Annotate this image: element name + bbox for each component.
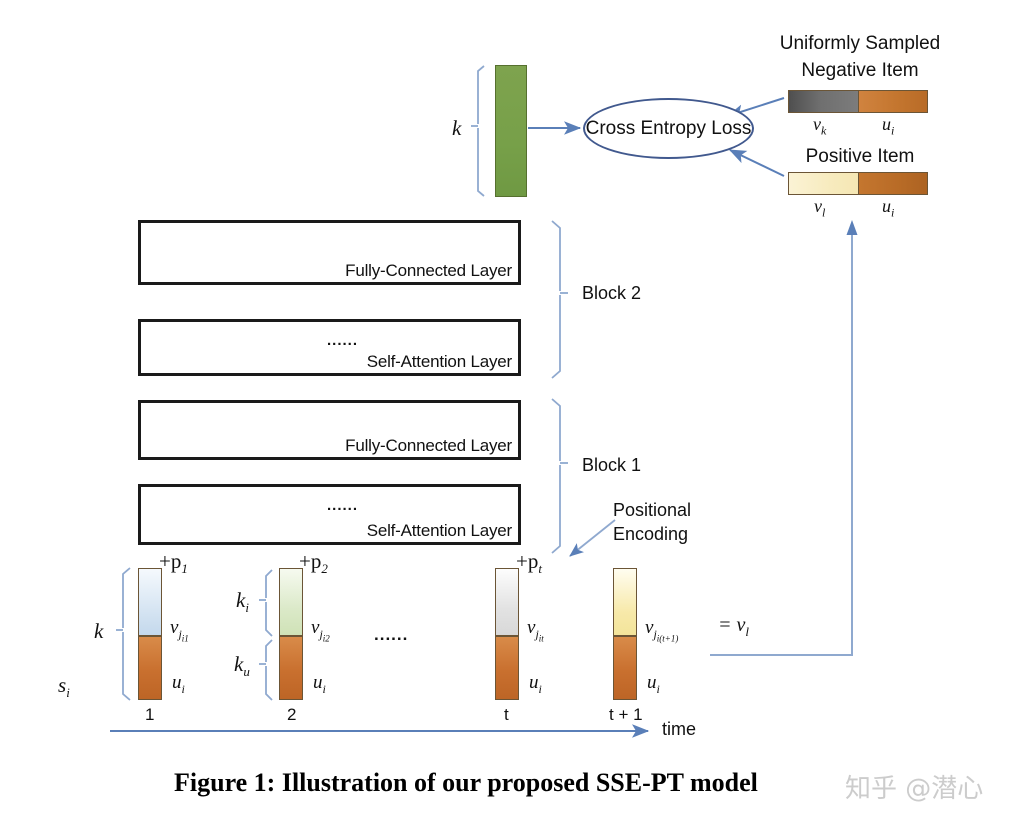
positive-item-bar: [788, 172, 928, 195]
input-column-t1-item-label: vji(t+1): [645, 617, 678, 643]
bracket-block-1: [552, 399, 568, 553]
input-column-t1-divider: [614, 635, 636, 637]
input-column-bar-1: [138, 568, 162, 700]
input-column-2-user-label: ui: [313, 672, 326, 697]
block1-fc-label: Fully-Connected Layer: [345, 436, 512, 456]
positive-item-right-half: [858, 173, 927, 194]
block2-fully-connected-layer: Fully-Connected Layer: [138, 220, 521, 285]
input-dim-label-k: k: [94, 619, 103, 644]
block1-fully-connected-layer: Fully-Connected Layer: [138, 400, 521, 460]
positive-item-right-label: ui: [882, 196, 894, 221]
block2-fc-label: Fully-Connected Layer: [345, 261, 512, 281]
negative-item-right-label: ui: [882, 114, 894, 139]
input-column-bar-t-plus-1: [613, 568, 637, 700]
cross-entropy-loss-node[interactable]: Cross Entropy Loss: [583, 98, 754, 159]
positive-item-left-half: [789, 173, 858, 194]
input-column-bar-2: [279, 568, 303, 700]
negative-item-bar: [788, 90, 928, 113]
positive-item-left-label: vl: [814, 196, 825, 221]
input-column-t-item-segment: [496, 569, 518, 636]
cross-entropy-loss-label: Cross Entropy Loss: [586, 118, 752, 140]
input-column-bar-t: [495, 568, 519, 700]
bracket-output-k: [471, 66, 484, 196]
positional-marker-p2: +p2: [299, 549, 328, 577]
output-vector-bar: [495, 65, 527, 197]
block1-label: Block 1: [582, 455, 641, 476]
negative-item-title-line2: Negative Item: [775, 60, 945, 82]
negative-item-right-half: [858, 91, 927, 112]
block2-attention-dots: ......: [327, 332, 358, 349]
input-sequence-ellipsis: ......: [374, 625, 408, 645]
bracket-block-2: [552, 221, 568, 378]
bracket-k-item: [259, 570, 272, 636]
connector-arrowhead: [847, 220, 858, 235]
input-column-1-tick: 1: [145, 705, 154, 725]
input-column-t1-item-segment: [614, 569, 636, 636]
block2-self-attention-layer: ...... Self-Attention Layer: [138, 319, 521, 376]
input-column-1-divider: [139, 635, 161, 637]
input-column-t-item-label: vjit: [527, 617, 544, 643]
negative-item-left-label: vk: [813, 114, 826, 139]
negative-item-left-half: [789, 91, 858, 112]
input-column-t-user-label: ui: [529, 672, 542, 697]
input-column-1-user-label: ui: [172, 672, 185, 697]
input-column-t1-equals-vl: = vl: [718, 614, 749, 640]
sequence-label-si: si: [58, 673, 70, 701]
item-dim-label-ki: ki: [236, 588, 249, 616]
input-column-t-divider: [496, 635, 518, 637]
block2-label: Block 2: [582, 283, 641, 304]
connector-target-to-positive: [710, 232, 852, 655]
bracket-input-k: [116, 568, 130, 700]
input-column-t-tick: t: [504, 705, 509, 725]
block1-self-attention-layer: ...... Self-Attention Layer: [138, 484, 521, 545]
input-column-t1-user-label: ui: [647, 672, 660, 697]
input-column-2-item-label: vji2: [311, 617, 330, 643]
input-column-1-item-label: vji1: [170, 617, 189, 643]
input-column-1-user-segment: [139, 636, 161, 699]
positional-marker-p1: +p1: [159, 549, 188, 577]
positive-item-title: Positive Item: [775, 146, 945, 168]
positional-encoding-label-line2: Encoding: [613, 524, 688, 545]
input-column-t-user-segment: [496, 636, 518, 699]
time-axis-label: time: [662, 719, 696, 740]
input-column-1-item-segment: [139, 569, 161, 636]
figure-caption: Figure 1: Illustration of our proposed S…: [174, 768, 758, 798]
input-column-2-divider: [280, 635, 302, 637]
positional-encoding-label-line1: Positional: [613, 500, 691, 521]
input-column-2-item-segment: [280, 569, 302, 636]
arrow-positional-encoding: [570, 520, 615, 556]
input-column-t1-user-segment: [614, 636, 636, 699]
figure-canvas: k Cross Entropy Loss Uniformly Sampled N…: [0, 0, 1030, 816]
negative-item-title-line1: Uniformly Sampled: [775, 33, 945, 55]
block1-attention-label: Self-Attention Layer: [367, 521, 512, 541]
block2-attention-label: Self-Attention Layer: [367, 352, 512, 372]
input-column-t1-tick: t + 1: [609, 705, 643, 725]
output-dim-label-k: k: [452, 116, 461, 141]
block1-attention-dots: ......: [327, 497, 358, 514]
positional-marker-pt: +pt: [516, 549, 542, 577]
user-dim-label-ku: ku: [234, 652, 250, 680]
bracket-k-user: [259, 640, 272, 700]
input-column-2-tick: 2: [287, 705, 296, 725]
watermark: 知乎 @潜心: [845, 768, 983, 805]
input-column-2-user-segment: [280, 636, 302, 699]
